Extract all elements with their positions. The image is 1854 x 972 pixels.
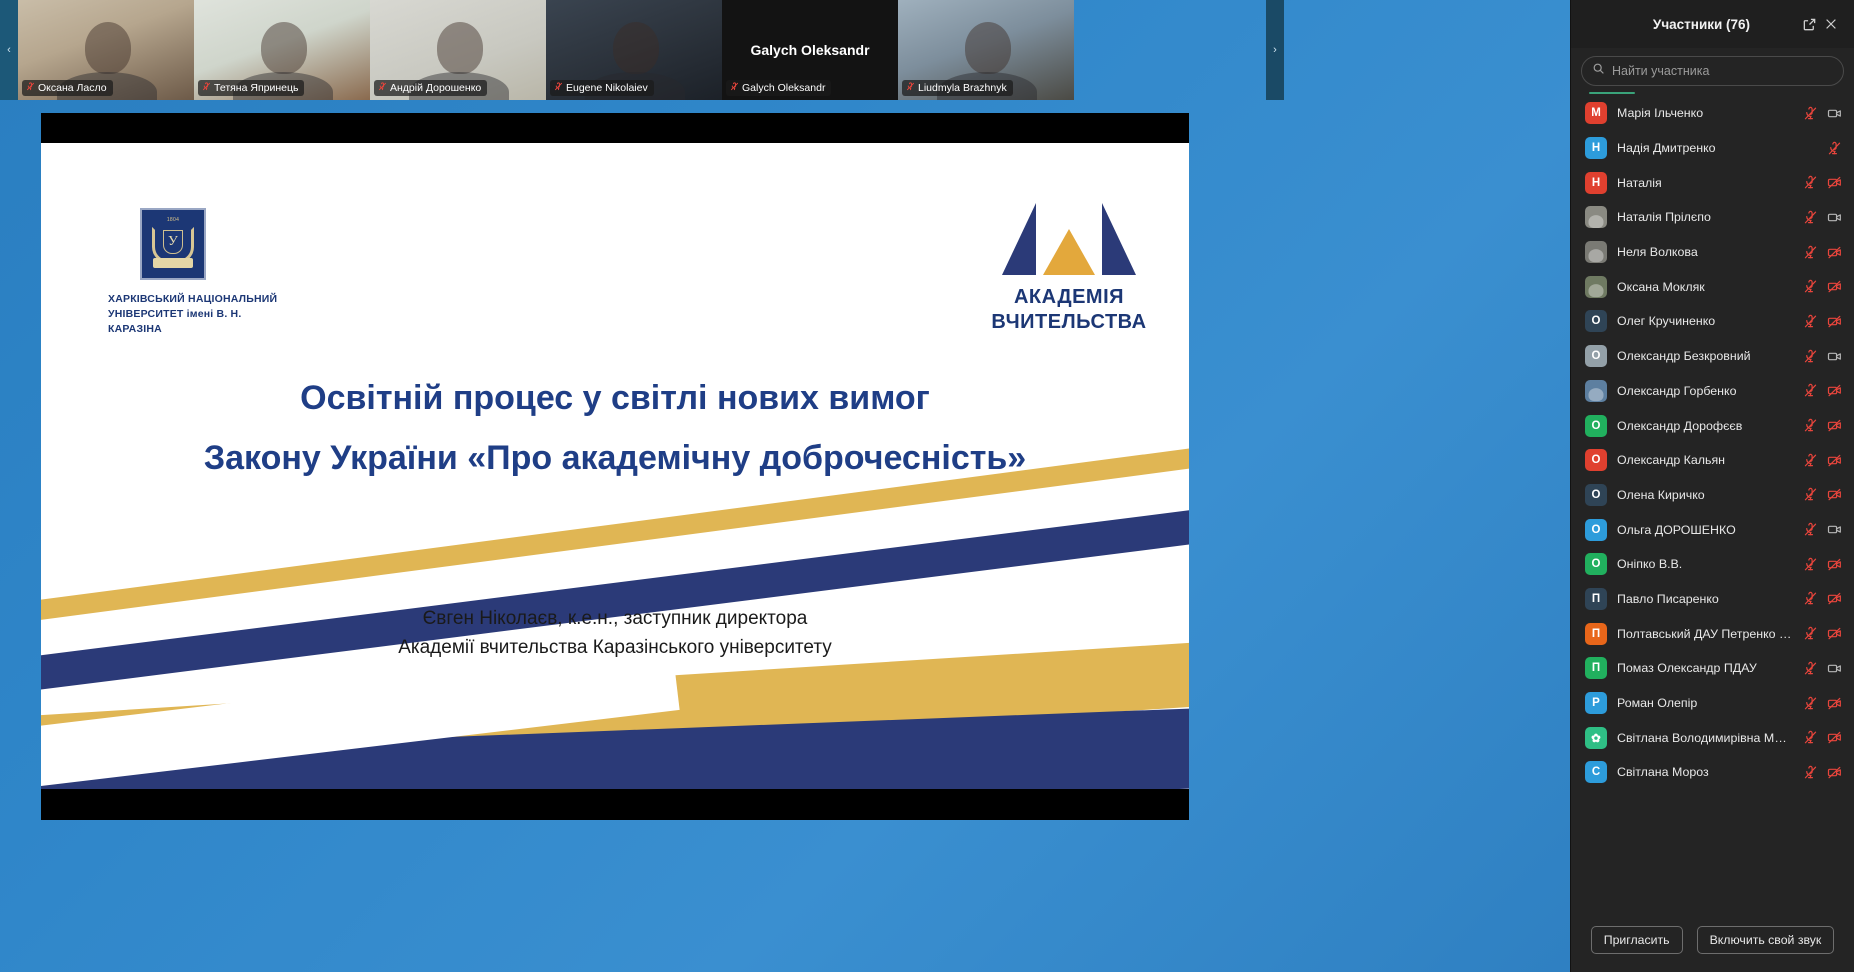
avatar-initial: О [1585, 484, 1607, 506]
participant-row[interactable]: ООлег Кручиненко [1571, 304, 1854, 339]
slide-title: Освітній процес у світлі нових вимог Зак… [121, 381, 1109, 475]
slide-author-line1: Євген Ніколаєв, к.е.н., заступник директ… [121, 605, 1109, 634]
camera-off-icon[interactable] [1827, 279, 1842, 294]
thumbnail-tiles: Оксана ЛаслоТетяна ЯпринецьАндрій Дороше… [18, 0, 1266, 100]
video-tile[interactable]: Андрій Дорошенко [370, 0, 546, 100]
university-name-line2: УНІВЕРСИТЕТ імені В. Н. КАРАЗІНА [108, 307, 298, 337]
mic-muted-icon[interactable] [1827, 141, 1842, 156]
video-tile-name: Eugene Nikolaiev [566, 82, 648, 94]
chevron-left-icon: ‹ [7, 44, 11, 56]
avatar-initial: С [1585, 761, 1607, 783]
avatar-initial: Н [1585, 172, 1607, 194]
participants-search-area [1571, 48, 1854, 92]
participant-status-icons [1803, 557, 1842, 572]
participant-name: Олександр Безкровний [1617, 349, 1793, 363]
camera-off-icon[interactable] [1827, 418, 1842, 433]
participant-status-icons [1803, 696, 1842, 711]
crest-year: 1804 [142, 217, 204, 223]
camera-off-icon[interactable] [1827, 487, 1842, 502]
participant-status-icons [1803, 487, 1842, 502]
camera-off-icon[interactable] [1827, 626, 1842, 641]
crest-ribbon [153, 258, 193, 268]
participant-status-icons [1803, 591, 1842, 606]
avatar-initial: Н [1585, 137, 1607, 159]
participant-status-icons [1803, 418, 1842, 433]
video-tile-name-label: Galych Oleksandr [726, 80, 831, 96]
search-box[interactable] [1581, 56, 1844, 86]
video-tile-name-label: Eugene Nikolaiev [550, 80, 654, 96]
camera-off-icon[interactable] [1827, 175, 1842, 190]
video-tile-name: Liudmyla Brazhnyk [918, 82, 1007, 94]
participants-panel-title: Участники (76) [1605, 17, 1798, 32]
video-tile-name: Оксана Ласло [38, 82, 107, 94]
participant-name: Олександр Дорофєєв [1617, 419, 1793, 433]
participant-name: Світлана Володимирівна Макарець [1617, 731, 1793, 745]
participant-status-icons [1803, 765, 1842, 780]
participant-row[interactable]: ММарія Ільченко [1571, 96, 1854, 131]
avatar-initial: М [1585, 102, 1607, 124]
video-tile-name: Андрій Дорошенко [390, 82, 481, 94]
filmstrip-prev-button[interactable]: ‹ [0, 0, 18, 100]
participant-status-icons [1803, 175, 1842, 190]
participant-row[interactable]: ССвітлана Мороз [1571, 755, 1854, 790]
participant-row[interactable]: ООлена Киричко [1571, 478, 1854, 513]
participant-row[interactable]: ППавло Писаренко [1571, 582, 1854, 617]
academy-name-line1: АКАДЕМІЯ [969, 285, 1169, 310]
avatar-photo [1585, 206, 1607, 228]
video-thumbnail-strip: ‹ Оксана ЛаслоТетяна ЯпринецьАндрій Доро… [0, 0, 1284, 100]
mic-muted-icon [906, 82, 915, 94]
video-tile-name-label: Тетяна Япринець [198, 80, 304, 96]
participant-name: Надія Дмитренко [1617, 141, 1817, 155]
participant-row[interactable]: Оксана Мокляк [1571, 269, 1854, 304]
camera-off-icon[interactable] [1827, 730, 1842, 745]
camera-on-icon[interactable] [1827, 349, 1842, 364]
participant-row[interactable]: ООлександр Кальян [1571, 443, 1854, 478]
mic-muted-icon [730, 82, 739, 94]
camera-on-icon[interactable] [1827, 106, 1842, 121]
participant-name: Наталія Прілєпо [1617, 210, 1793, 224]
participant-row[interactable]: Олександр Горбенко [1571, 374, 1854, 409]
participant-name: Олег Кручиненко [1617, 314, 1793, 328]
camera-off-icon[interactable] [1827, 557, 1842, 572]
participant-row[interactable]: Наталія Прілєпо [1571, 200, 1854, 235]
avatar-photo [1585, 241, 1607, 263]
participants-panel-footer: Пригласить Включить свой звук [1571, 916, 1854, 972]
camera-off-icon[interactable] [1827, 453, 1842, 468]
academy-name-line2: ВЧИТЕЛЬСТВА [969, 310, 1169, 335]
invite-button[interactable]: Пригласить [1591, 926, 1683, 954]
slide-author: Євген Ніколаєв, к.е.н., заступник директ… [121, 605, 1109, 662]
close-icon[interactable] [1820, 13, 1842, 35]
participant-status-icons [1803, 730, 1842, 745]
search-icon [1592, 62, 1605, 80]
video-tile-name-label: Андрій Дорошенко [374, 80, 487, 96]
participant-name: Оніпко В.В. [1617, 557, 1793, 571]
shared-screen-area[interactable]: 1804 У ХАРКІВСЬКИЙ НАЦІОНАЛЬНИЙ УНІВЕРСИ… [41, 113, 1189, 820]
participant-row[interactable]: ППолтавський ДАУ Петренко Максим [1571, 616, 1854, 651]
mic-muted-icon[interactable] [1803, 279, 1818, 294]
mic-muted-icon[interactable] [1803, 245, 1818, 260]
academy-mark-icon [994, 203, 1144, 275]
mic-muted-icon [554, 82, 563, 94]
video-tile[interactable]: Eugene Nikolaiev [546, 0, 722, 100]
university-name: ХАРКІВСЬКИЙ НАЦІОНАЛЬНИЙ УНІВЕРСИТЕТ іме… [108, 292, 298, 338]
avatar-initial: П [1585, 657, 1607, 679]
mic-muted-icon[interactable] [1803, 453, 1818, 468]
academy-mark-right [1102, 203, 1136, 275]
participant-row[interactable]: РРоман Олепір [1571, 686, 1854, 721]
participant-status-icons [1803, 314, 1842, 329]
participant-status-icons [1803, 210, 1842, 225]
academy-logo: АКАДЕМІЯ ВЧИТЕЛЬСТВА [969, 203, 1169, 335]
camera-on-icon[interactable] [1827, 661, 1842, 676]
mic-muted-icon[interactable] [1803, 418, 1818, 433]
search-input[interactable] [1612, 64, 1833, 78]
participant-name: Олександр Горбенко [1617, 384, 1793, 398]
participant-name: Павло Писаренко [1617, 592, 1793, 606]
participant-name: Олександр Кальян [1617, 453, 1793, 467]
mic-muted-icon[interactable] [1803, 314, 1818, 329]
avatar-initial: О [1585, 553, 1607, 575]
crest-letter: У [163, 230, 183, 254]
participant-status-icons [1803, 383, 1842, 398]
participant-row[interactable]: ✿Світлана Володимирівна Макарець [1571, 720, 1854, 755]
participant-name: Олена Киричко [1617, 488, 1793, 502]
mic-muted-icon [202, 82, 211, 94]
avatar-initial: О [1585, 449, 1607, 471]
video-tile-name-label: Liudmyla Brazhnyk [902, 80, 1013, 96]
participant-name: Світлана Мороз [1617, 765, 1793, 779]
participants-panel: Участники (76) ММарія ІльченкоННадія Дми… [1570, 0, 1854, 972]
participant-status-icons [1803, 626, 1842, 641]
video-tile[interactable]: Тетяна Япринець [194, 0, 370, 100]
academy-mark-center [1043, 229, 1095, 275]
slide-title-line1: Освітній процес у світлі нових вимог [121, 381, 1109, 415]
academy-name: АКАДЕМІЯ ВЧИТЕЛЬСТВА [969, 285, 1169, 335]
mic-muted-icon[interactable] [1803, 626, 1818, 641]
avatar-photo [1585, 276, 1607, 298]
mic-muted-icon[interactable] [1803, 522, 1818, 537]
unmute-button[interactable]: Включить свой звук [1697, 926, 1835, 954]
mic-muted-icon[interactable] [1803, 106, 1818, 121]
participant-status-icons [1803, 279, 1842, 294]
video-tile[interactable]: Оксана Ласло [18, 0, 194, 100]
participant-row[interactable]: ООлександр Безкровний [1571, 339, 1854, 374]
participants-panel-header: Участники (76) [1571, 0, 1854, 48]
participant-row[interactable]: ООніпко В.В. [1571, 547, 1854, 582]
slide-author-line2: Академії вчительства Каразінського уніве… [121, 634, 1109, 663]
camera-off-icon[interactable] [1827, 765, 1842, 780]
filmstrip-next-button[interactable]: › [1266, 0, 1284, 100]
participant-status-icons [1803, 245, 1842, 260]
mic-muted-icon[interactable] [1803, 349, 1818, 364]
avatar-initial: Р [1585, 692, 1607, 714]
mic-muted-icon [26, 82, 35, 94]
mic-muted-icon[interactable] [1803, 175, 1818, 190]
participant-status-icons [1827, 141, 1842, 156]
participant-row[interactable]: Неля Волкова [1571, 235, 1854, 270]
avatar-photo [1585, 380, 1607, 402]
avatar-initial: О [1585, 415, 1607, 437]
mic-muted-icon[interactable] [1803, 487, 1818, 502]
participant-status-icons [1803, 661, 1842, 676]
video-tile-name-label: Оксана Ласло [22, 80, 113, 96]
participant-row[interactable]: ННаталія [1571, 165, 1854, 200]
avatar-initial: ✿ [1585, 727, 1607, 749]
participant-status-icons [1803, 522, 1842, 537]
popout-icon[interactable] [1798, 13, 1820, 35]
camera-off-icon[interactable] [1827, 383, 1842, 398]
chevron-right-icon: › [1273, 44, 1277, 56]
participant-name: Полтавський ДАУ Петренко Максим [1617, 627, 1793, 641]
participant-row[interactable]: ООлександр Дорофєєв [1571, 408, 1854, 443]
video-tile[interactable]: Liudmyla Brazhnyk [898, 0, 1074, 100]
camera-off-icon[interactable] [1827, 314, 1842, 329]
mic-muted-icon[interactable] [1803, 730, 1818, 745]
participant-row[interactable]: ППомаз Олександр ПДАУ [1571, 651, 1854, 686]
camera-on-icon[interactable] [1827, 210, 1842, 225]
mic-muted-icon[interactable] [1803, 383, 1818, 398]
slide-title-line2: Закону України «Про академічну доброчесн… [121, 441, 1109, 475]
mic-muted-icon[interactable] [1803, 765, 1818, 780]
presentation-slide: 1804 У ХАРКІВСЬКИЙ НАЦІОНАЛЬНИЙ УНІВЕРСИ… [41, 143, 1189, 789]
participant-name: Оксана Мокляк [1617, 280, 1793, 294]
participant-name: Роман Олепір [1617, 696, 1793, 710]
avatar-initial: О [1585, 310, 1607, 332]
camera-off-icon[interactable] [1827, 591, 1842, 606]
mic-muted-icon[interactable] [1803, 557, 1818, 572]
participant-status-icons [1803, 349, 1842, 364]
avatar-initial: П [1585, 588, 1607, 610]
video-tile[interactable]: Galych OleksandrGalych Oleksandr [722, 0, 898, 100]
mic-muted-icon[interactable] [1803, 210, 1818, 225]
video-tile-name: Тетяна Япринець [214, 82, 298, 94]
avatar-initial: П [1585, 623, 1607, 645]
camera-off-icon[interactable] [1827, 245, 1842, 260]
mic-muted-icon[interactable] [1803, 661, 1818, 676]
participant-name: Помаз Олександр ПДАУ [1617, 661, 1793, 675]
mic-muted-icon[interactable] [1803, 696, 1818, 711]
avatar-initial: О [1585, 345, 1607, 367]
university-name-line1: ХАРКІВСЬКИЙ НАЦІОНАЛЬНИЙ [108, 292, 298, 307]
participant-status-icons [1803, 106, 1842, 121]
camera-off-icon[interactable] [1827, 696, 1842, 711]
participant-name: Неля Волкова [1617, 245, 1793, 259]
video-tile-name: Galych Oleksandr [742, 82, 825, 94]
participant-name: Ольга ДОРОШЕНКО [1617, 523, 1793, 537]
participant-name: Марія Ільченко [1617, 106, 1793, 120]
avatar-initial: О [1585, 519, 1607, 541]
participants-list[interactable]: ММарія ІльченкоННадія ДмитренкоННаталіяН… [1571, 94, 1854, 916]
participant-name: Наталія [1617, 176, 1793, 190]
karazin-university-logo: 1804 У ХАРКІВСЬКИЙ НАЦІОНАЛЬНИЙ УНІВЕРСИ… [108, 208, 298, 338]
university-crest-icon: 1804 У [140, 208, 206, 280]
academy-mark-left [1002, 203, 1036, 275]
participant-row[interactable]: ННадія Дмитренко [1571, 131, 1854, 166]
participant-row[interactable]: ООльга ДОРОШЕНКО [1571, 512, 1854, 547]
participant-status-icons [1803, 453, 1842, 468]
mic-muted-icon[interactable] [1803, 591, 1818, 606]
camera-on-icon[interactable] [1827, 522, 1842, 537]
mic-muted-icon [378, 82, 387, 94]
